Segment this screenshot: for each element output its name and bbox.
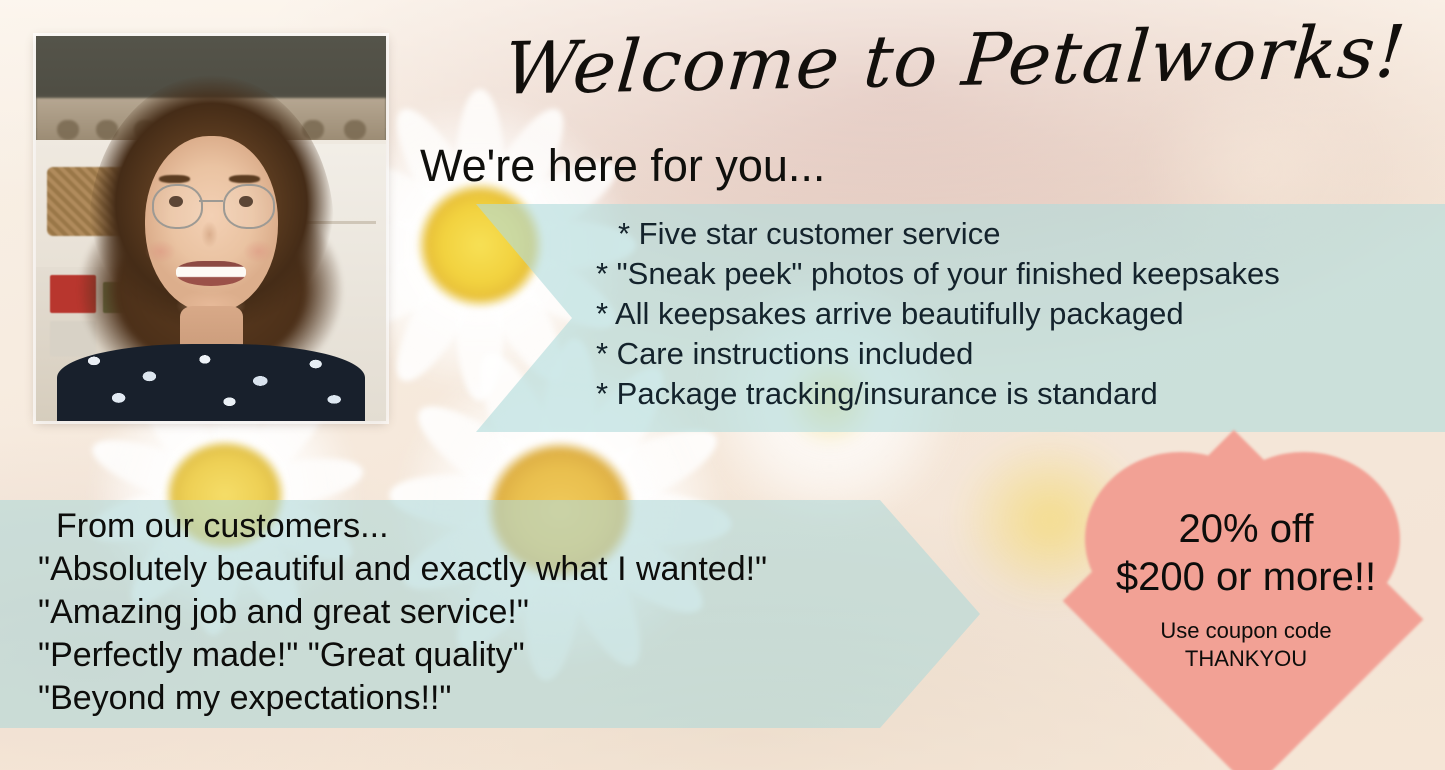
feature-item: * Package tracking/insurance is standard (596, 374, 1280, 414)
coupon-text: 20% off $200 or more!! Use coupon code T… (1090, 505, 1402, 673)
promo-banner: Welcome to Petalworks! We're here for yo… (0, 0, 1445, 770)
feature-item: * "Sneak peek" photos of your finished k… (596, 254, 1280, 294)
feature-item: * Care instructions included (596, 334, 1280, 374)
testimonial-quote: "Beyond my expectations!!" (38, 677, 767, 720)
testimonial-quote: "Absolutely beautiful and exactly what I… (38, 548, 767, 591)
coupon-code: THANKYOU (1090, 645, 1402, 673)
testimonial-quote: "Perfectly made!" "Great quality" (38, 634, 767, 677)
testimonials-lead: From our customers... (38, 505, 767, 548)
coupon-instruction: Use coupon code (1090, 617, 1402, 645)
features-list: * Five star customer service * "Sneak pe… (596, 214, 1280, 414)
feature-item: * Five star customer service (596, 214, 1280, 254)
coupon-threshold: $200 or more!! (1090, 553, 1402, 601)
feature-item: * All keepsakes arrive beautifully packa… (596, 294, 1280, 334)
coupon-discount: 20% off (1090, 505, 1402, 553)
page-title: Welcome to Petalworks! (501, 9, 1410, 110)
owner-portrait-photo (36, 36, 386, 421)
subheadline: We're here for you... (420, 140, 825, 192)
testimonials-list: From our customers... "Absolutely beauti… (38, 505, 767, 720)
testimonial-quote: "Amazing job and great service!" (38, 591, 767, 634)
